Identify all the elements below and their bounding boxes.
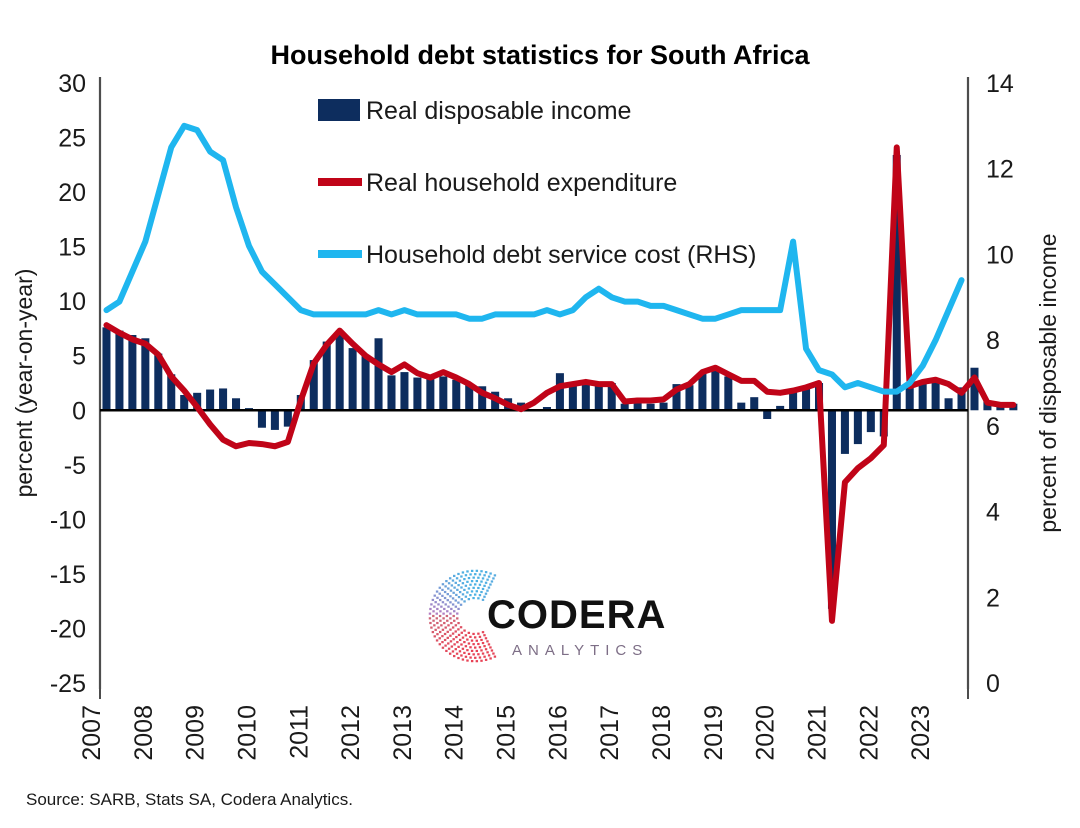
watermark-dot bbox=[462, 637, 464, 639]
bar-real-disposable-income bbox=[569, 385, 577, 410]
legend-item-label: Household debt service cost (RHS) bbox=[366, 241, 756, 269]
bar-real-disposable-income bbox=[258, 410, 266, 427]
y2-axis-tick-label: 14 bbox=[986, 70, 1014, 98]
watermark-dot bbox=[455, 594, 457, 596]
bar-real-disposable-income bbox=[232, 398, 240, 410]
watermark-dot bbox=[443, 622, 445, 624]
watermark-dot bbox=[471, 580, 473, 582]
watermark-dot bbox=[492, 652, 494, 654]
watermark-dot bbox=[449, 635, 451, 637]
bar-real-disposable-income bbox=[556, 373, 564, 410]
watermark-dot bbox=[457, 622, 459, 624]
watermark-dot bbox=[447, 642, 449, 644]
watermark-dot bbox=[462, 648, 464, 650]
y-axis-tick-label: 25 bbox=[58, 125, 86, 153]
watermark-dot bbox=[465, 656, 467, 658]
watermark-dot bbox=[443, 608, 445, 610]
watermark-dot bbox=[436, 639, 438, 641]
watermark-dot bbox=[456, 617, 458, 619]
watermark-dot bbox=[452, 597, 454, 599]
watermark-wordmark: CODERA bbox=[487, 593, 666, 637]
watermark-dot bbox=[459, 639, 461, 641]
y-axis-tick-label: -15 bbox=[50, 561, 86, 589]
bar-real-disposable-income bbox=[945, 398, 953, 410]
watermark-dot bbox=[485, 571, 487, 573]
y-axis-tick-label: 15 bbox=[58, 234, 86, 262]
watermark-dot bbox=[460, 626, 462, 628]
watermark-dot bbox=[455, 636, 457, 638]
watermark-dot bbox=[489, 646, 491, 648]
watermark-dot bbox=[447, 587, 449, 589]
watermark-dot bbox=[445, 580, 447, 582]
watermark-dot bbox=[457, 573, 459, 575]
x-axis-tick-label: 2016 bbox=[544, 705, 572, 761]
watermark-dot bbox=[448, 648, 450, 650]
household-debt-chart: Household debt statistics for South Afri… bbox=[0, 0, 1080, 828]
watermark-dot bbox=[457, 602, 459, 604]
watermark-dot bbox=[452, 592, 454, 594]
watermark-dot bbox=[477, 653, 479, 655]
watermark-dot bbox=[442, 583, 444, 585]
legend-item-label: Real disposable income bbox=[366, 97, 631, 125]
watermark-dot bbox=[463, 652, 465, 654]
watermark-dot bbox=[472, 643, 474, 645]
legend-item[interactable]: Household debt service cost (RHS) bbox=[318, 241, 756, 269]
watermark-dot bbox=[476, 640, 478, 642]
legend-item[interactable]: Real household expenditure bbox=[318, 169, 677, 197]
x-axis-tick-label: 2010 bbox=[233, 705, 261, 761]
x-axis-tick-label: 2014 bbox=[441, 705, 469, 761]
watermark-dot bbox=[434, 595, 436, 597]
watermark-dot bbox=[459, 650, 461, 652]
bar-real-disposable-income bbox=[362, 356, 370, 411]
watermark-dot bbox=[450, 608, 452, 610]
bar-real-disposable-income bbox=[128, 335, 136, 410]
watermark-dot bbox=[465, 574, 467, 576]
watermark-dot bbox=[468, 598, 470, 600]
y-axis-tick-label: -5 bbox=[64, 452, 86, 480]
watermark-dot bbox=[486, 640, 488, 642]
watermark-dot bbox=[479, 646, 481, 648]
bar-real-disposable-income bbox=[685, 385, 693, 410]
watermark-dot bbox=[474, 583, 476, 585]
watermark-dot bbox=[483, 645, 485, 647]
watermark-dot bbox=[477, 577, 479, 579]
watermark-dot bbox=[486, 590, 488, 592]
y-axis-tick-label: 10 bbox=[58, 288, 86, 316]
watermark-dot bbox=[482, 631, 484, 633]
watermark-dot bbox=[430, 627, 432, 629]
watermark-dot bbox=[436, 613, 438, 615]
watermark-dot bbox=[440, 624, 442, 626]
watermark-dot bbox=[460, 604, 462, 606]
watermark-dot bbox=[439, 620, 441, 622]
watermark-dot bbox=[488, 643, 490, 645]
watermark-dot bbox=[432, 631, 434, 633]
watermark-dot bbox=[471, 640, 473, 642]
watermark-dot bbox=[436, 608, 438, 610]
watermark-dot bbox=[459, 591, 461, 593]
bar-real-disposable-income bbox=[206, 390, 214, 411]
y-axis-tick-label: -10 bbox=[50, 506, 86, 534]
watermark-dot bbox=[463, 578, 465, 580]
y2-axis-tick-label: 12 bbox=[986, 156, 1014, 184]
watermark-dot bbox=[432, 615, 434, 617]
bar-real-disposable-income bbox=[400, 372, 408, 410]
watermark-dot bbox=[432, 599, 434, 601]
watermark-dot bbox=[466, 649, 468, 651]
watermark-dot bbox=[489, 583, 491, 585]
watermark-dot bbox=[452, 579, 454, 581]
watermark-dot bbox=[468, 577, 470, 579]
y-axis-tick-label: 30 bbox=[58, 70, 86, 98]
y2-axis-tick-label: 6 bbox=[986, 413, 1000, 441]
watermark-dot bbox=[455, 599, 457, 601]
watermark-dot bbox=[482, 642, 484, 644]
watermark-dot bbox=[474, 646, 476, 648]
watermark-dot bbox=[488, 654, 490, 656]
watermark-dot bbox=[485, 637, 487, 639]
watermark-dot bbox=[450, 640, 452, 642]
watermark-dot bbox=[466, 591, 468, 593]
watermark-dot bbox=[441, 589, 443, 591]
watermark-dot bbox=[485, 648, 487, 650]
bar-real-disposable-income bbox=[426, 376, 434, 410]
watermark-dot bbox=[474, 594, 476, 596]
bar-real-disposable-income bbox=[271, 410, 279, 430]
watermark-dot bbox=[469, 584, 471, 586]
watermark-dot bbox=[429, 613, 431, 615]
watermark-dot bbox=[453, 587, 455, 589]
watermark-dot bbox=[449, 595, 451, 597]
chart-title: Household debt statistics for South Afri… bbox=[270, 40, 810, 70]
bar-real-disposable-income bbox=[867, 410, 875, 432]
watermark-dot bbox=[474, 573, 476, 575]
watermark-dot bbox=[444, 645, 446, 647]
bar-real-disposable-income bbox=[439, 376, 447, 410]
watermark-dot bbox=[474, 657, 476, 659]
watermark-dot bbox=[441, 595, 443, 597]
watermark-dot bbox=[466, 659, 468, 661]
watermark-dot bbox=[472, 633, 474, 635]
watermark-dot bbox=[449, 613, 451, 615]
watermark-dot bbox=[447, 637, 449, 639]
bar-real-disposable-income bbox=[763, 410, 771, 419]
watermark-dot bbox=[449, 629, 451, 631]
watermark-dot bbox=[447, 593, 449, 595]
watermark-dot bbox=[466, 570, 468, 572]
watermark-dot bbox=[444, 603, 446, 605]
x-axis-tick-label: 2009 bbox=[182, 705, 210, 761]
watermark-dot bbox=[433, 624, 435, 626]
watermark-dot bbox=[429, 622, 431, 624]
watermark-dot bbox=[444, 597, 446, 599]
y-axis-tick-label: 20 bbox=[58, 179, 86, 207]
watermark-dot bbox=[479, 656, 481, 658]
watermark-dot bbox=[455, 624, 457, 626]
watermark-dot bbox=[469, 636, 471, 638]
bar-real-disposable-income bbox=[595, 384, 603, 410]
watermark-dot bbox=[488, 586, 490, 588]
watermark-dot bbox=[491, 580, 493, 582]
watermark-dot bbox=[460, 643, 462, 645]
watermark-dot bbox=[468, 587, 470, 589]
bar-real-disposable-income bbox=[932, 382, 940, 410]
watermark-dot bbox=[472, 597, 474, 599]
watermark-dot bbox=[458, 634, 460, 636]
y2-axis-title: percent of disposable income bbox=[1035, 233, 1061, 532]
watermark-dot bbox=[485, 582, 487, 584]
x-axis-tick-label: 2018 bbox=[648, 705, 676, 761]
watermark-dot bbox=[434, 629, 436, 631]
x-axis-tick-label: 2013 bbox=[389, 705, 417, 761]
watermark-dot bbox=[463, 641, 465, 643]
watermark-dot bbox=[456, 589, 458, 591]
watermark-dot bbox=[463, 629, 465, 631]
watermark-dot bbox=[429, 608, 431, 610]
y-axis-title: percent (year-on-year) bbox=[11, 269, 37, 498]
watermark-dot bbox=[437, 603, 439, 605]
watermark-dot bbox=[465, 585, 467, 587]
watermark-dot bbox=[445, 650, 447, 652]
watermark-dot bbox=[460, 586, 462, 588]
watermark-dot bbox=[452, 650, 454, 652]
watermark-dot bbox=[462, 582, 464, 584]
watermark-dot bbox=[468, 642, 470, 644]
bar-real-disposable-income bbox=[452, 380, 460, 411]
watermark-dot bbox=[449, 617, 451, 619]
watermark-dot bbox=[449, 577, 451, 579]
watermark-dot bbox=[447, 599, 449, 601]
watermark-dot bbox=[459, 580, 461, 582]
watermark-dot bbox=[456, 641, 458, 643]
x-axis-tick-label: 2021 bbox=[803, 705, 831, 761]
bar-real-disposable-income bbox=[582, 383, 590, 410]
x-axis-tick-label: 2007 bbox=[78, 705, 106, 761]
y-axis-tick-label: -25 bbox=[50, 670, 86, 698]
watermark-dot bbox=[455, 606, 457, 608]
watermark-dot bbox=[471, 570, 473, 572]
watermark-dot bbox=[439, 599, 441, 601]
watermark-dot bbox=[480, 649, 482, 651]
watermark-dot bbox=[434, 635, 436, 637]
watermark-dot bbox=[450, 590, 452, 592]
x-axis-tick-label: 2019 bbox=[700, 705, 728, 761]
watermark-dot bbox=[483, 585, 485, 587]
legend-item[interactable]: Real disposable income bbox=[318, 97, 631, 125]
y2-axis-tick-label: 0 bbox=[986, 670, 1000, 698]
watermark-dot bbox=[483, 634, 485, 636]
watermark-dot bbox=[433, 606, 435, 608]
y2-axis-tick-label: 2 bbox=[986, 584, 1000, 612]
x-axis-tick-label: 2022 bbox=[855, 705, 883, 761]
watermark-dot bbox=[436, 622, 438, 624]
watermark-dot bbox=[486, 579, 488, 581]
watermark-dot bbox=[465, 634, 467, 636]
watermark-dot bbox=[449, 601, 451, 603]
watermark-dot bbox=[453, 643, 455, 645]
watermark-dot bbox=[453, 615, 455, 617]
bar-real-disposable-income bbox=[413, 378, 421, 411]
watermark-dot bbox=[457, 584, 459, 586]
watermark-dot bbox=[482, 599, 484, 601]
watermark-dot bbox=[452, 626, 454, 628]
bar-real-disposable-income bbox=[102, 327, 110, 410]
watermark-dot bbox=[479, 594, 481, 596]
watermark-dot bbox=[479, 636, 481, 638]
watermark-dot bbox=[453, 575, 455, 577]
watermark-dot bbox=[455, 630, 457, 632]
watermark-dot bbox=[477, 587, 479, 589]
watermark-dot bbox=[449, 653, 451, 655]
watermark-dot bbox=[439, 587, 441, 589]
watermark-dot bbox=[442, 613, 444, 615]
watermark-dot bbox=[455, 582, 457, 584]
watermark-dot bbox=[450, 622, 452, 624]
watermark-dot bbox=[472, 653, 474, 655]
watermark-dot bbox=[463, 589, 465, 591]
watermark-dot bbox=[482, 588, 484, 590]
watermark-dot bbox=[477, 643, 479, 645]
watermark-dot bbox=[462, 593, 464, 595]
watermark-dot bbox=[457, 646, 459, 648]
watermark-dot bbox=[492, 577, 494, 579]
watermark-dot bbox=[439, 637, 441, 639]
watermark-dot bbox=[462, 658, 464, 660]
watermark-dot bbox=[482, 652, 484, 654]
watermark-dot bbox=[439, 593, 441, 595]
watermark-dot bbox=[471, 660, 473, 662]
watermark-dot bbox=[494, 656, 496, 658]
watermark-dot bbox=[465, 596, 467, 598]
source-note: Source: SARB, Stats SA, Codera Analytics… bbox=[26, 790, 353, 809]
watermark-subtitle: ANALYTICS bbox=[512, 642, 648, 659]
watermark-dot bbox=[453, 610, 455, 612]
watermark-dot bbox=[446, 620, 448, 622]
watermark-dot bbox=[429, 617, 431, 619]
watermark-dot bbox=[469, 656, 471, 658]
watermark-dot bbox=[457, 608, 459, 610]
watermark-dot bbox=[439, 631, 441, 633]
watermark-dot bbox=[479, 573, 481, 575]
watermark-dot bbox=[442, 601, 444, 603]
watermark-dot bbox=[458, 596, 460, 598]
watermark-dot bbox=[439, 643, 441, 645]
watermark-dot bbox=[444, 591, 446, 593]
legend-item-label: Real household expenditure bbox=[366, 169, 677, 197]
watermark-dot bbox=[446, 615, 448, 617]
bar-real-disposable-income bbox=[219, 388, 227, 410]
watermark-dot bbox=[456, 653, 458, 655]
watermark-dot bbox=[480, 591, 482, 593]
watermark-dot bbox=[469, 573, 471, 575]
watermark-dot bbox=[444, 626, 446, 628]
bar-real-disposable-income bbox=[724, 376, 732, 410]
watermark-dot bbox=[457, 628, 459, 630]
watermark-dot bbox=[486, 651, 488, 653]
x-axis-tick-label: 2012 bbox=[337, 705, 365, 761]
watermark-dot bbox=[442, 647, 444, 649]
watermark-dot bbox=[447, 624, 449, 626]
watermark-dot bbox=[485, 659, 487, 661]
watermark-dot bbox=[468, 632, 470, 634]
watermark-dot bbox=[461, 598, 463, 600]
x-axis-tick-label: 2020 bbox=[752, 705, 780, 761]
watermark-dot bbox=[472, 577, 474, 579]
watermark-dot bbox=[442, 629, 444, 631]
watermark-dot bbox=[494, 574, 496, 576]
watermark-dot bbox=[468, 653, 470, 655]
bar-real-disposable-income bbox=[387, 375, 395, 410]
y2-axis-tick-label: 4 bbox=[986, 499, 1000, 527]
watermark-dot bbox=[476, 650, 478, 652]
watermark-dot bbox=[476, 580, 478, 582]
watermark-dot bbox=[463, 600, 465, 602]
watermark-dot bbox=[453, 655, 455, 657]
watermark-dot bbox=[480, 580, 482, 582]
watermark-dot bbox=[488, 576, 490, 578]
y2-axis-tick-label: 8 bbox=[986, 327, 1000, 355]
watermark-dot bbox=[479, 584, 481, 586]
watermark-dot bbox=[436, 617, 438, 619]
y-axis-tick-label: 0 bbox=[72, 397, 86, 425]
watermark-dot bbox=[432, 610, 434, 612]
x-axis-tick-label: 2023 bbox=[907, 705, 935, 761]
watermark-dot bbox=[444, 633, 446, 635]
watermark-dot bbox=[451, 584, 453, 586]
watermark-dot bbox=[451, 645, 453, 647]
watermark-dot bbox=[441, 635, 443, 637]
watermark-dot bbox=[456, 612, 458, 614]
watermark-dot bbox=[460, 654, 462, 656]
watermark-dot bbox=[483, 596, 485, 598]
watermark-dot bbox=[447, 631, 449, 633]
watermark-dot bbox=[439, 615, 441, 617]
watermark-dot bbox=[489, 572, 491, 574]
watermark-dot bbox=[452, 638, 454, 640]
watermark-dot bbox=[480, 660, 482, 662]
legend-swatch-bar-icon bbox=[318, 99, 360, 121]
bar-real-disposable-income bbox=[854, 410, 862, 444]
watermark-dot bbox=[437, 626, 439, 628]
watermark-dot bbox=[446, 610, 448, 612]
bar-real-disposable-income bbox=[336, 331, 344, 411]
x-axis-tick-label: 2017 bbox=[596, 705, 624, 761]
bar-real-disposable-income bbox=[115, 331, 123, 411]
watermark-dot bbox=[439, 610, 441, 612]
watermark-dot bbox=[453, 620, 455, 622]
watermark-dot bbox=[477, 633, 479, 635]
watermark-dot bbox=[466, 638, 468, 640]
watermark-dot bbox=[444, 585, 446, 587]
watermark-dot bbox=[436, 633, 438, 635]
x-axis-tick-label: 2011 bbox=[285, 705, 313, 759]
watermark-dot bbox=[440, 606, 442, 608]
watermark-dot bbox=[476, 570, 478, 572]
watermark-dot bbox=[480, 570, 482, 572]
watermark-dot bbox=[474, 636, 476, 638]
y2-axis-tick-label: 10 bbox=[986, 241, 1014, 269]
watermark-dot bbox=[482, 577, 484, 579]
watermark-dot bbox=[432, 620, 434, 622]
x-axis-tick-label: 2015 bbox=[493, 705, 521, 761]
y-axis-tick-label: -20 bbox=[50, 615, 86, 643]
watermark-dot bbox=[469, 646, 471, 648]
y-axis-tick-label: 5 bbox=[72, 343, 86, 371]
watermark-dot bbox=[491, 649, 493, 651]
watermark-dot bbox=[469, 594, 471, 596]
watermark-dot bbox=[434, 601, 436, 603]
